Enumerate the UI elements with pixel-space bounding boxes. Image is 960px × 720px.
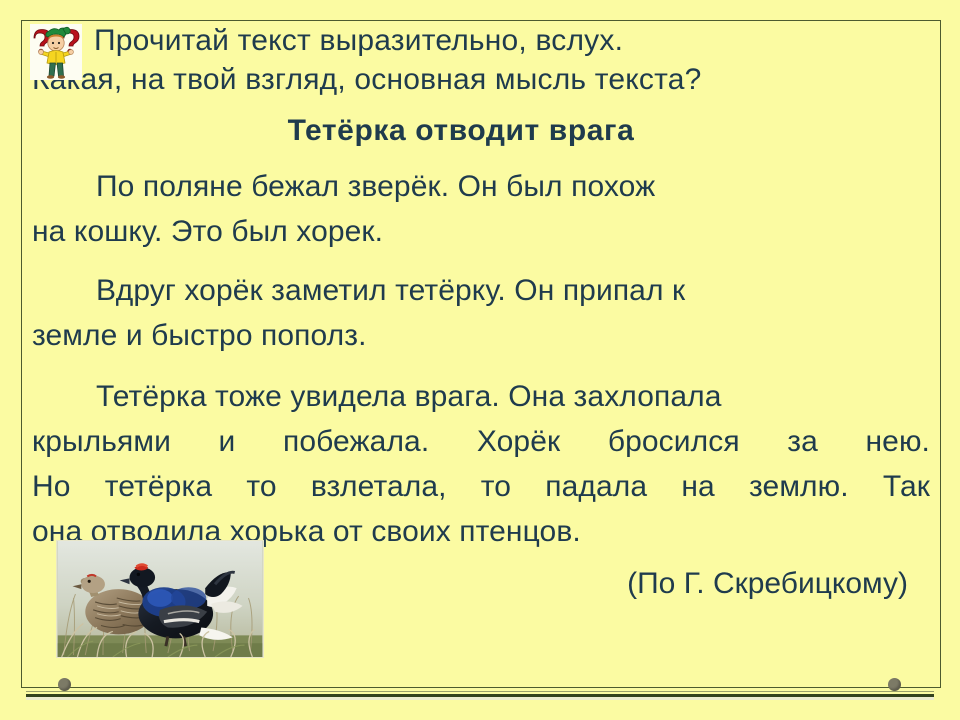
thinking-boy-with-question-marks-icon — [30, 24, 82, 80]
paragraph-2-line-1: Вдруг хорёк заметил тетёрку. Он припал к — [32, 268, 930, 313]
bottom-rule-highlight — [26, 691, 934, 692]
decorative-dot-left — [58, 678, 71, 691]
story-paragraph-3: Тетёрка тоже увидела врага. Она захлопал… — [32, 374, 930, 554]
story-paragraph-1: По поляне бежал зверёк. Он был похож на … — [32, 164, 930, 254]
paragraph-1-line-2: на кошку. Это был хорек. — [32, 215, 383, 248]
story-paragraph-2: Вдруг хорёк заметил тетёрку. Он припал к… — [32, 268, 930, 358]
black-grouse-pair-photo — [56, 540, 264, 658]
paragraph-3-line-2: крыльями и побежала. Хорёк бросился за н… — [32, 425, 930, 458]
bottom-rule — [26, 694, 934, 697]
paragraph-3-line-1: Тетёрка тоже увидела врага. Она захлопал… — [32, 374, 930, 419]
prompt-line-1: Прочитай текст выразительно, вслух. — [32, 22, 930, 59]
prompt-line-2: Какая, на твой взгляд, основная мысль те… — [32, 61, 930, 98]
task-prompt: Прочитай текст выразительно, вслух. Кака… — [32, 22, 930, 98]
paragraph-2-line-2: земле и быстро пополз. — [32, 319, 367, 352]
story-title: Тетёрка отводит врага — [32, 112, 890, 150]
paragraph-1-line-1: По поляне бежал зверёк. Он был похож — [32, 164, 930, 209]
slide-canvas: Прочитай текст выразительно, вслух. Кака… — [0, 0, 960, 720]
decorative-dot-right — [888, 678, 901, 691]
paragraph-3-line-3: Но тетёрка то взлетала, то падала на зем… — [32, 470, 930, 503]
